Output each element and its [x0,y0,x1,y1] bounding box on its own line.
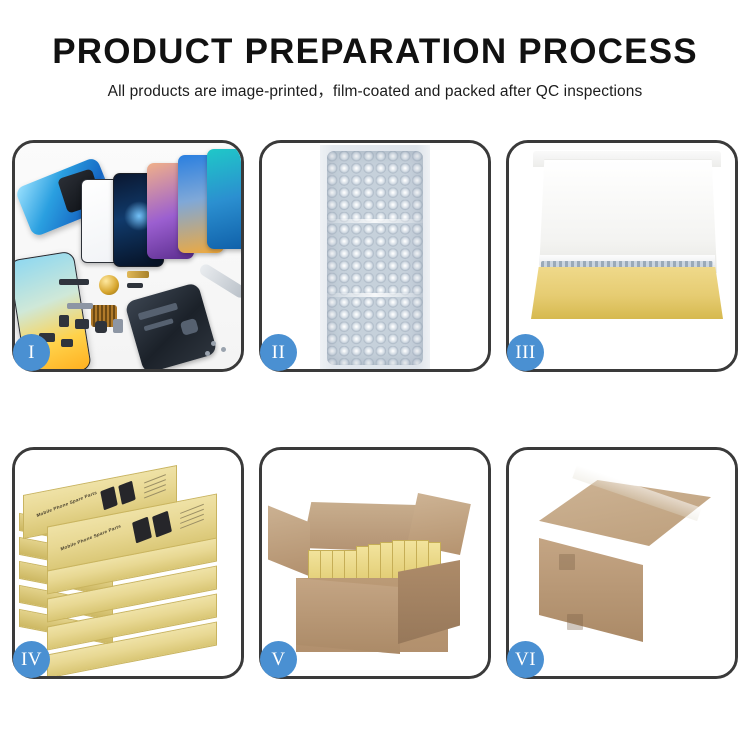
chip-icon [59,315,69,327]
step-badge-1: I [13,334,50,371]
header: PRODUCT PREPARATION PROCESS All products… [0,0,750,103]
screw-icon [221,347,226,352]
phone-screen-4-icon [207,149,241,249]
step-badge-5: V [260,641,297,678]
steps-row-bottom: Mobile Phone Spare Parts Mobile Phone Sp… [12,447,738,679]
carton-front-face-icon [296,578,400,654]
repair-tool-icon [198,262,241,300]
sim-tray-icon [113,319,123,333]
metal-bracket-icon [67,303,93,309]
small-part-icon [127,283,143,288]
wrap-seam-icon [327,219,423,223]
box-phone-image [100,486,118,510]
carton-front-face-icon [539,538,643,642]
step-panel-sealed-carton: VI [506,447,738,679]
carton-side-face-icon [398,560,460,644]
sealed-carton-image [509,450,735,676]
screw-icon [205,351,210,356]
box-phone-image [152,511,172,538]
products-image [15,143,241,369]
page-subtitle: All products are image-printed，film-coat… [0,81,750,103]
carton-flap-left-icon [268,506,310,577]
step-panel-products: I [12,140,244,372]
inner-box-image [509,143,735,369]
box-label-text: Mobile Phone Spare Parts [60,523,121,551]
step-panel-inner-box: III [506,140,738,372]
steps-grid: I II [0,140,750,754]
kraft-box-tray-icon [531,267,723,319]
step-panel-stacked-boxes: Mobile Phone Spare Parts Mobile Phone Sp… [12,447,244,679]
step-badge-6: VI [507,641,544,678]
wrap-seam-icon [327,293,423,297]
button-flex-icon [61,339,73,347]
carton-tab-icon [559,554,575,570]
carton-tab-icon [567,614,583,630]
step-panel-carton-filling: V [259,447,491,679]
steps-row-top: I II [12,140,738,372]
bubble-grid-icon [327,151,423,365]
step-badge-3: III [507,334,544,371]
camera-module-icon [75,319,89,329]
step-badge-4: IV [13,641,50,678]
product-preparation-infographic: PRODUCT PREPARATION PROCESS All products… [0,0,750,750]
step-badge-2: II [260,334,297,371]
battery-connector-icon [95,321,107,333]
box-phone-image [132,517,152,544]
flex-cable-icon [59,279,89,285]
stacked-boxes-image: Mobile Phone Spare Parts Mobile Phone Sp… [15,450,241,676]
box-phone-image [118,481,136,505]
bubble-wrap-image [262,143,488,369]
box-label-text: Mobile Phone Spare Parts [36,490,97,518]
screw-icon [211,341,216,346]
page-title: PRODUCT PREPARATION PROCESS [0,30,750,74]
carton-filling-image [262,450,488,676]
step-panel-bubble-wrap: II [259,140,491,372]
round-component-icon [99,275,119,295]
phone-back-housing-icon [124,282,217,369]
gold-connector-icon [127,271,149,278]
